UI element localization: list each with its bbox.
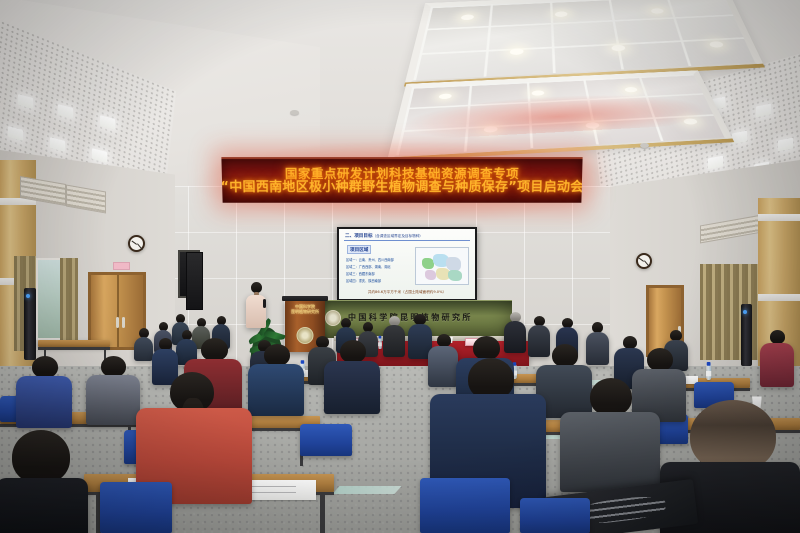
speaker-tower-right — [741, 304, 752, 366]
wall-clock-left — [128, 235, 145, 252]
presenter-at-podium — [244, 282, 272, 328]
banner-line-2: “中国西南地区极小种群野生植物调查与种质保存”项目启动会 — [221, 181, 582, 195]
attendee-body — [248, 364, 304, 416]
desk-leg — [320, 492, 325, 533]
slide-bullet: 区域三：西藏东南部 — [346, 271, 375, 276]
blue-conference-chair[interactable] — [420, 478, 510, 533]
attendee — [16, 356, 72, 426]
power-led-icon — [26, 294, 30, 298]
attendee-head — [473, 336, 500, 360]
attendee-body — [383, 325, 405, 357]
side-table-left — [38, 340, 110, 347]
microphone-icon — [263, 299, 266, 308]
blue-conference-chair[interactable] — [300, 424, 352, 456]
blue-conference-chair[interactable] — [520, 498, 590, 533]
column-band — [758, 294, 800, 301]
attendee-head — [264, 344, 290, 366]
notice-sign-left — [113, 262, 130, 270]
attendee-body — [760, 343, 794, 387]
attendee — [248, 344, 304, 414]
bottle-cap — [379, 336, 382, 339]
attendee-head — [552, 344, 578, 367]
lectern-top — [282, 296, 328, 301]
attendee-body — [86, 375, 140, 425]
bottle-label — [706, 371, 711, 376]
slide-title: 二、项目目标（含调查区域界定及目标物种） — [345, 233, 471, 239]
ceiling-light-well — [404, 0, 765, 87]
banner-line-1: 国家重点研发计划科技基础资源调查专项 — [285, 167, 519, 181]
wall-speaker-left — [186, 252, 203, 310]
floor-inlay-strip — [332, 486, 401, 494]
speaker-tower-left — [24, 288, 36, 360]
attendee-head — [201, 338, 228, 361]
map-region — [448, 270, 462, 281]
attendee-body — [0, 478, 88, 533]
attendee-head — [340, 340, 366, 363]
smoke-detector-icon — [640, 143, 649, 148]
bottle-cap — [707, 362, 711, 366]
attendee-head — [647, 348, 673, 371]
presentation-slide: 二、项目目标（含调查区域界定及目标物种） 项目区域 区域一：云南、贵州、四川西南… — [339, 229, 475, 299]
door-split — [117, 275, 119, 347]
attendee-body — [324, 361, 380, 414]
slide-bullet: 区域一：云南、贵州、四川西南部 — [346, 257, 394, 262]
slide-title-text: 二、项目目标 — [345, 234, 373, 239]
slide-map — [415, 247, 469, 285]
meeting-room-photo: 国家重点研发计划科技基础资源调查专项 “中国西南地区极小种群野生植物调查与种质保… — [0, 0, 800, 533]
attendee-head — [12, 430, 70, 484]
attendee-head — [32, 356, 58, 378]
slide-section-label: 项目区域 — [347, 245, 371, 254]
lectern-line-2: 昆明植物研究所 — [288, 309, 322, 314]
projection-screen: 二、项目目标（含调查区域界定及目标物种） 项目区域 区域一：云南、贵州、四川西南… — [337, 227, 477, 301]
map-region — [425, 270, 436, 280]
attendee — [324, 340, 380, 412]
column-band — [758, 214, 800, 221]
attendee — [760, 330, 794, 386]
door-handle[interactable] — [122, 317, 125, 328]
slide-footer: 共约86.6万平方千米（占国土陆域面积约9.0%） — [339, 290, 475, 295]
smoke-detector-icon — [290, 110, 299, 115]
attendee-head — [770, 330, 785, 344]
attendee-body — [560, 412, 660, 492]
slide-bullet: 区域二：广西西部、湖南、湖北 — [346, 264, 391, 269]
attendee — [560, 378, 660, 488]
attendee — [86, 356, 140, 424]
water-bottle — [706, 365, 711, 380]
blue-conference-chair[interactable] — [100, 482, 172, 533]
door-handle[interactable] — [116, 317, 119, 328]
led-banner: 国家重点研发计划科技基础资源调查专项 “中国西南地区极小种群野生植物调查与种质保… — [221, 157, 582, 203]
desk-edge — [38, 347, 110, 350]
attendee-body — [16, 376, 72, 428]
slide-rule — [344, 240, 470, 241]
wall-clock-right — [636, 253, 652, 269]
lectern-text: 中国科学院 昆明植物研究所 — [288, 304, 322, 315]
slide-bullet: 区域四：重庆、陕西南部 — [346, 278, 381, 283]
attendee — [0, 430, 88, 533]
power-led-icon — [743, 310, 747, 314]
slide-title-sub: （含调查区域界定及目标物种） — [373, 234, 423, 238]
attendee-head — [101, 356, 126, 377]
attendee-head — [590, 378, 632, 416]
curtain-left-2 — [60, 258, 78, 346]
attendee — [383, 316, 405, 356]
